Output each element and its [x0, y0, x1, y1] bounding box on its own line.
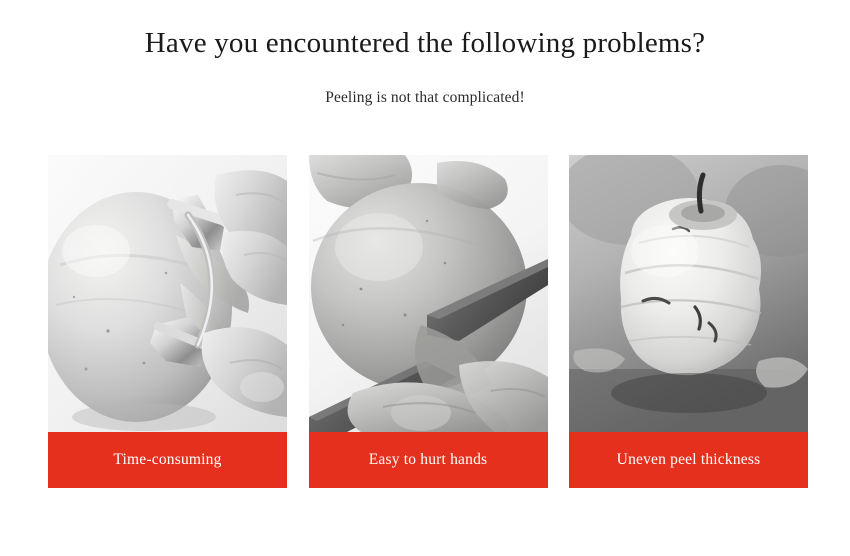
peeler-photo	[48, 155, 287, 432]
promo-banner: Have you encountered the following probl…	[0, 0, 850, 556]
page-title: Have you encountered the following probl…	[0, 26, 850, 61]
problem-card[interactable]: Easy to hurt hands	[309, 155, 548, 488]
page-subtitle: Peeling is not that complicated!	[0, 88, 850, 108]
problem-card-list: Time-consuming	[48, 155, 808, 488]
card-caption: Easy to hurt hands	[309, 432, 548, 488]
knife-photo	[309, 155, 548, 432]
problem-card[interactable]: Time-consuming	[48, 155, 287, 488]
problem-card[interactable]: Uneven peel thickness	[569, 155, 808, 488]
card-caption: Uneven peel thickness	[569, 432, 808, 488]
card-caption: Time-consuming	[48, 432, 287, 488]
peeled-apple-photo	[569, 155, 808, 432]
